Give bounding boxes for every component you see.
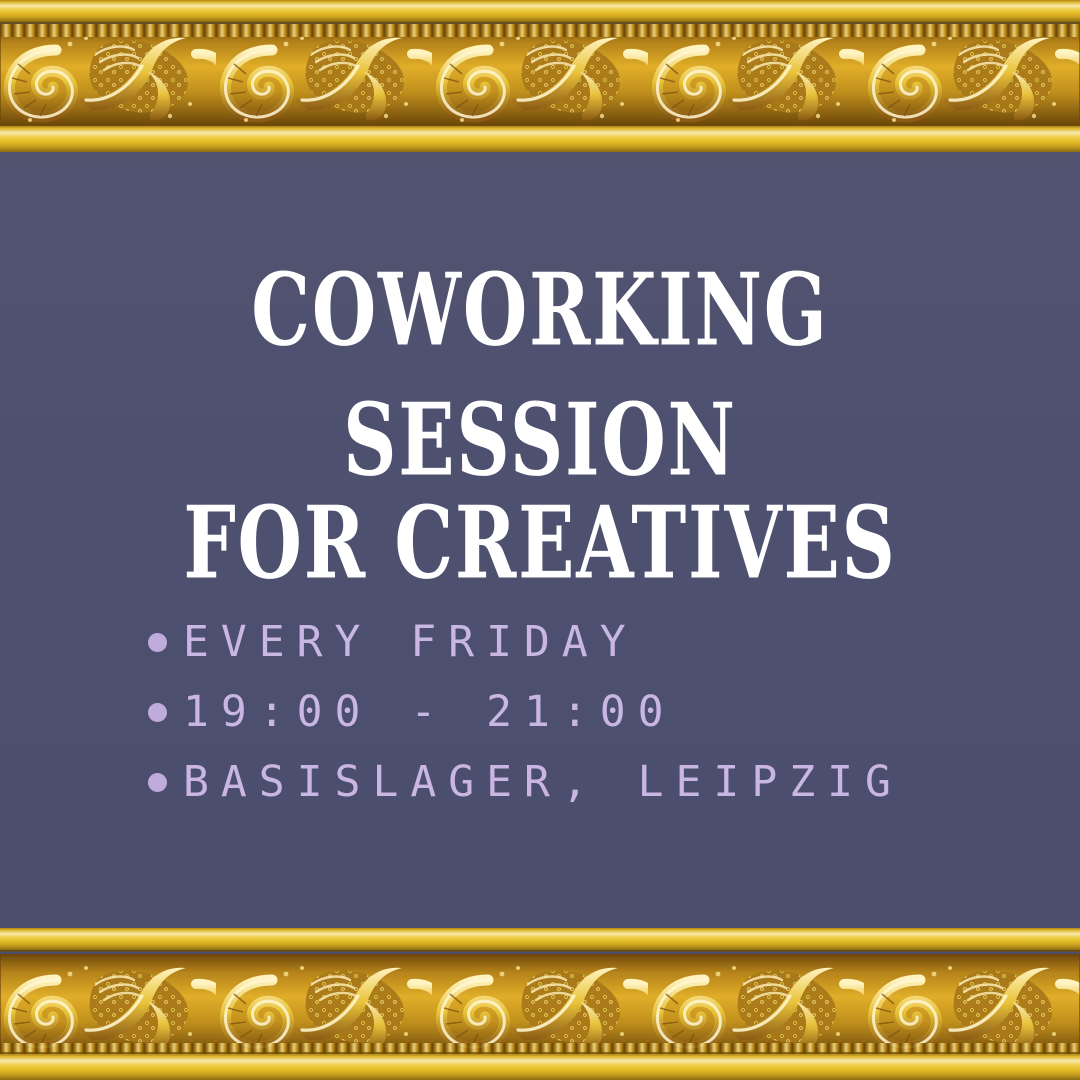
frame-ornament-top <box>0 24 1080 126</box>
detail-text-location: BASISLAGER, LEIPZIG <box>183 761 903 804</box>
detail-text-time: 19:00 - 21:00 <box>183 691 676 734</box>
frame-outer-lip-bottom <box>0 1054 1080 1080</box>
gold-frame-bottom <box>0 928 1080 1080</box>
detail-item-time: 19:00 - 21:00 <box>148 677 903 747</box>
frame-outer-lip-top <box>0 0 1080 22</box>
bullet-dot-icon <box>148 703 167 722</box>
detail-text-day: EVERY FRIDAY <box>183 621 638 664</box>
frame-ornament-bottom <box>0 954 1080 1056</box>
frame-hairline-bottom-b <box>0 950 1080 952</box>
bullet-dot-icon <box>148 773 167 792</box>
gold-frame-top <box>0 0 1080 152</box>
headline-line-1: COWORKING SESSION <box>76 246 1005 505</box>
detail-item-day: EVERY FRIDAY <box>148 607 903 677</box>
bullet-dot-icon <box>148 633 167 652</box>
frame-inner-lip-bottom <box>0 928 1080 950</box>
frame-bead-row-top <box>0 24 1080 37</box>
poster-canvas: COWORKING SESSION FOR CREATIVES EVERY FR… <box>0 152 1080 928</box>
headline-line-2: FOR CREATIVES <box>76 479 1005 609</box>
event-poster: COWORKING SESSION FOR CREATIVES EVERY FR… <box>0 0 1080 1080</box>
frame-inner-lip-top <box>0 126 1080 152</box>
detail-item-location: BASISLAGER, LEIPZIG <box>148 747 903 817</box>
event-details-list: EVERY FRIDAY 19:00 - 21:00 BASISLAGER, L… <box>148 607 903 817</box>
poster-headline: COWORKING SESSION FOR CREATIVES <box>0 264 1080 599</box>
